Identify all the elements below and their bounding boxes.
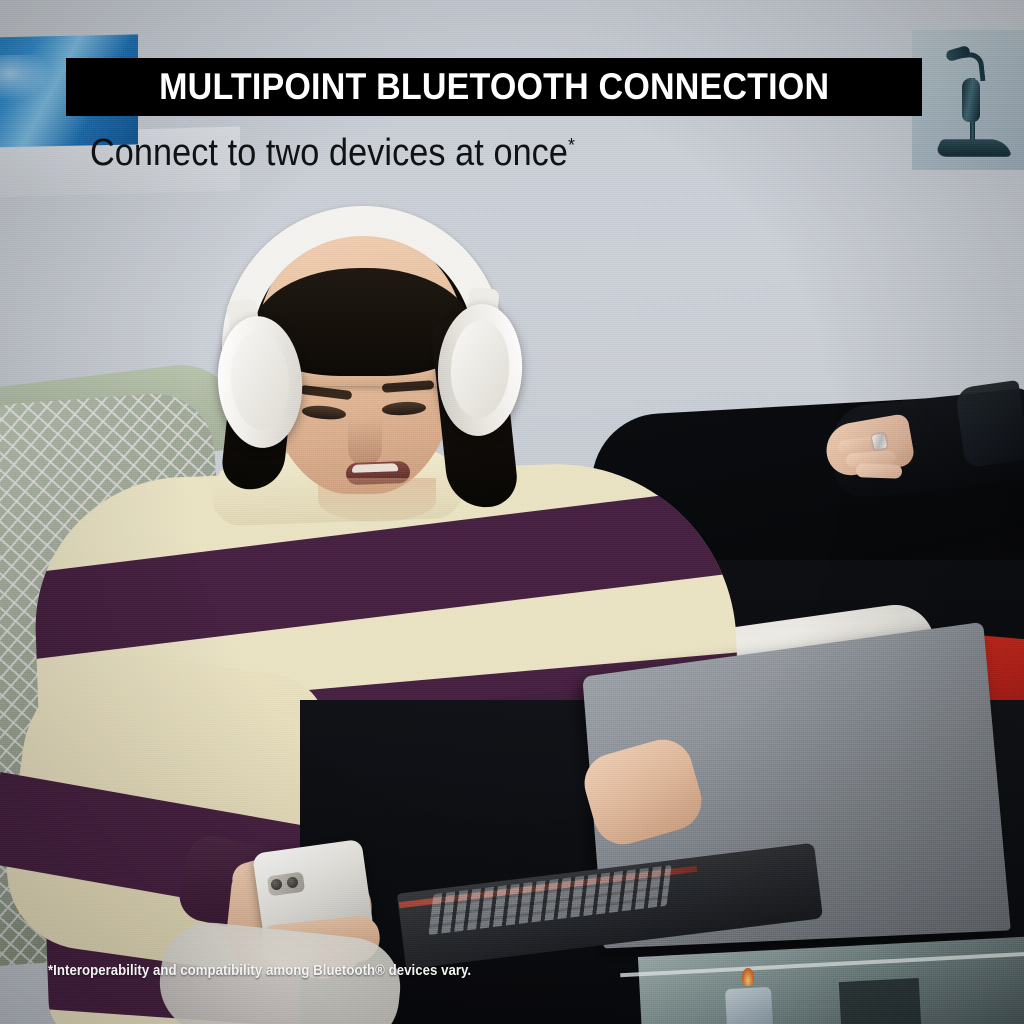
nose	[348, 418, 382, 466]
hand-finger	[856, 463, 902, 479]
subheading: Connect to two devices at once*	[90, 132, 575, 175]
candle-flame	[742, 968, 754, 986]
phone-camera-lens	[287, 877, 298, 888]
microphone-base	[934, 139, 1013, 157]
advertisement-slide: MULTIPOINT BLUETOOTH CONNECTION Connect …	[0, 0, 1024, 1024]
microphone-sculpture-icon	[938, 48, 1008, 166]
headline-banner: MULTIPOINT BLUETOOTH CONNECTION	[66, 58, 922, 116]
second-person-sleeve	[955, 380, 1024, 468]
footnote-text: *Interoperability and compatibility amon…	[48, 962, 471, 979]
glass-table-reflection	[839, 978, 921, 1024]
silver-ring	[872, 433, 888, 450]
headline-text: MULTIPOINT BLUETOOTH CONNECTION	[159, 66, 829, 108]
earcup-inner	[449, 319, 512, 420]
table-object	[725, 987, 773, 1024]
earcup-inner	[228, 330, 293, 432]
teeth	[352, 463, 398, 473]
footnote-marker: *	[568, 134, 575, 156]
phone-camera-lens	[271, 879, 282, 890]
chin	[318, 478, 436, 522]
microphone-body	[962, 78, 980, 122]
subheading-text: Connect to two devices at once	[90, 132, 568, 174]
